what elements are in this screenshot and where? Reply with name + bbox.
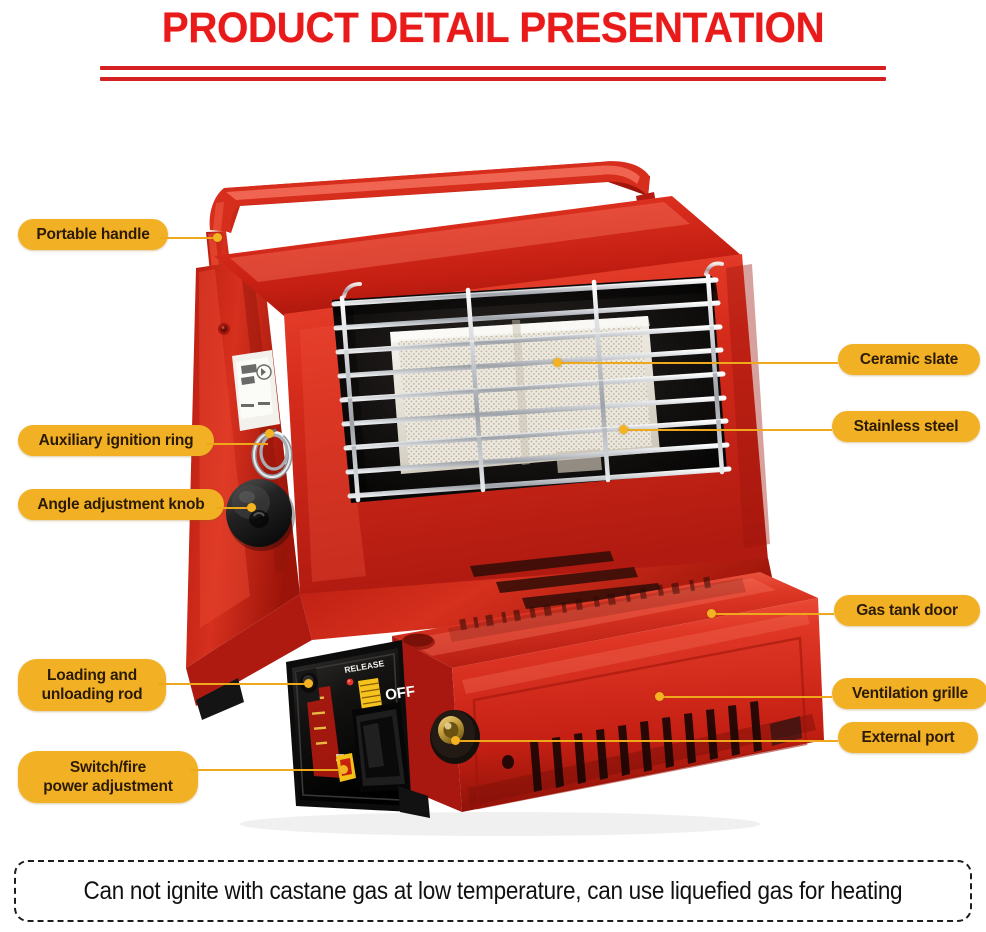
product-detail-presentation: PRODUCT DETAIL PRESENTATION	[0, 0, 986, 932]
leader-line-portable-handle	[160, 237, 216, 239]
flame-level-indicator	[358, 678, 382, 710]
callout-ceramic-slate[interactable]: Ceramic slate	[838, 344, 980, 375]
leader-line-stainless-steel	[624, 429, 832, 431]
callout-loading-unloading-rod[interactable]: Loading and unloading rod	[18, 659, 166, 711]
control-panel[interactable]: RELEASE OFF	[286, 640, 416, 812]
anchor-dot-ignition-ring	[265, 429, 274, 438]
warning-sticker	[232, 350, 280, 431]
leader-line-loading-rod	[158, 683, 308, 685]
footer-note-text: Can not ignite with castane gas at low t…	[84, 877, 903, 906]
callout-stainless-steel[interactable]: Stainless steel	[832, 411, 980, 442]
anchor-dot-gas-tank-door	[707, 609, 716, 618]
anchor-dot-ceramic-slate	[553, 358, 562, 367]
side-screw	[218, 323, 230, 335]
leader-line-ignition-ring	[206, 443, 268, 445]
callout-gas-tank-door[interactable]: Gas tank door	[834, 595, 980, 626]
leader-line-ventilation-grille	[660, 696, 832, 698]
anchor-dot-portable-handle	[213, 233, 222, 242]
leader-line-switch-power	[190, 769, 342, 771]
leader-line-ceramic-slate	[558, 362, 838, 364]
callout-ventilation-grille[interactable]: Ventilation grille	[832, 678, 986, 709]
power-switch-lever[interactable]	[352, 702, 410, 792]
anchor-dot-angle-knob	[247, 503, 256, 512]
anchor-dot-loading-rod	[304, 679, 313, 688]
anchor-dot-external-port	[451, 736, 460, 745]
anchor-dot-stainless-steel	[619, 425, 628, 434]
callout-portable-handle[interactable]: Portable handle	[18, 219, 168, 250]
callout-angle-adjustment-knob[interactable]: Angle adjustment knob	[18, 489, 224, 520]
callout-switch-fire-power-adjustment[interactable]: Switch/fire power adjustment	[18, 751, 198, 803]
anchor-dot-switch-power	[339, 765, 348, 774]
callout-external-port[interactable]: External port	[838, 722, 978, 753]
callout-auxiliary-ignition-ring[interactable]: Auxiliary ignition ring	[18, 425, 214, 456]
leader-line-external-port	[456, 740, 838, 742]
anchor-dot-ventilation-grille	[655, 692, 664, 701]
leader-line-gas-tank-door	[712, 613, 834, 615]
footer-note-box: Can not ignite with castane gas at low t…	[14, 860, 972, 922]
